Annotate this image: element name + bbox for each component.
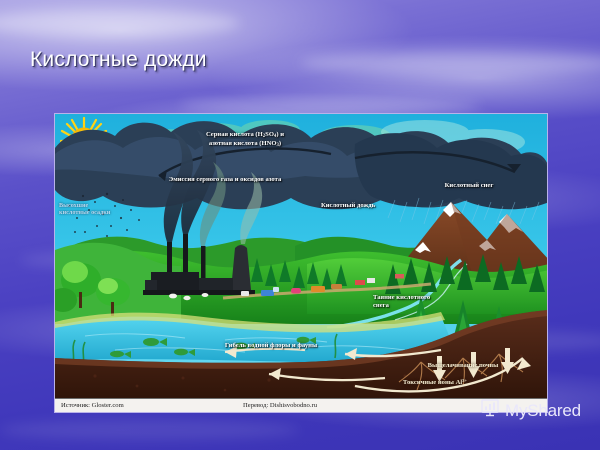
footer-translation: Перевод: Dishisvobodno.ru: [243, 402, 317, 409]
slide-background: Кислотные дожди: [0, 0, 600, 450]
cloud-wisp: [0, 420, 300, 440]
cloud-wisp: [180, 96, 480, 114]
acid-rain-diagram: Серная кислота (H2SO4) и азотная кислота…: [54, 113, 548, 413]
myshared-watermark: MyShared: [480, 398, 581, 423]
diagram-footer: Источник: Gloster.com Перевод: Dishisvob…: [55, 398, 548, 412]
diagram-illustration: [55, 114, 548, 400]
watermark-text: MyShared: [505, 401, 581, 421]
footer-source: Источник: Gloster.com: [61, 402, 124, 409]
presentation-chart-icon: [480, 398, 500, 423]
cloud-wisp: [0, 10, 240, 36]
cloud-wisp: [300, 52, 600, 74]
page-title: Кислотные дожди: [30, 48, 207, 72]
